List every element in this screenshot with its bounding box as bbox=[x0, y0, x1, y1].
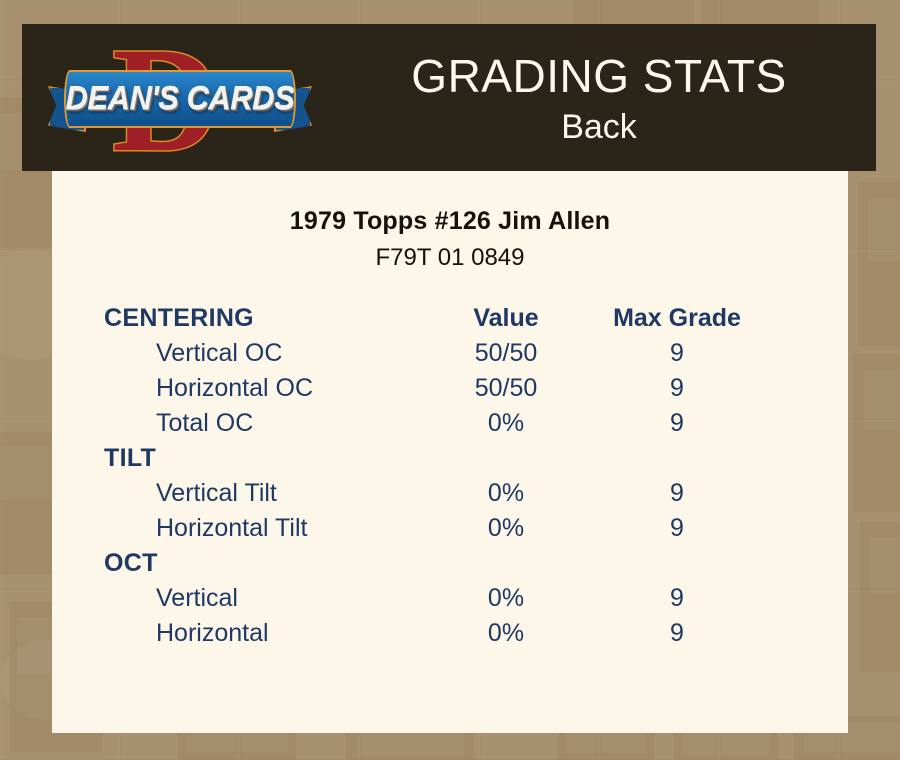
table-section-row-tilt: TILT bbox=[52, 444, 848, 479]
row-label: Vertical Tilt bbox=[52, 479, 420, 508]
section-header-tilt: TILT bbox=[52, 444, 420, 473]
table-row: Vertical OC 50/50 9 bbox=[52, 339, 848, 374]
header-band: D D DEAN'S CARDS GRADING STATS Back bbox=[22, 24, 876, 171]
column-header-max-grade: Max Grade bbox=[592, 304, 762, 333]
row-value: 0% bbox=[420, 479, 592, 508]
section-header-oct: OCT bbox=[52, 549, 420, 578]
column-header-centering: CENTERING bbox=[52, 304, 420, 333]
row-max-grade: 9 bbox=[592, 409, 762, 438]
table-row: Vertical Tilt 0% 9 bbox=[52, 479, 848, 514]
table-row: Horizontal Tilt 0% 9 bbox=[52, 514, 848, 549]
row-value: 50/50 bbox=[420, 339, 592, 368]
background-card bbox=[852, 352, 900, 514]
row-max-grade: 9 bbox=[592, 374, 762, 403]
page-subtitle: Back bbox=[561, 106, 637, 148]
table-row: Total OC 0% 9 bbox=[52, 409, 848, 444]
card-serial: F79T 01 0849 bbox=[52, 244, 848, 272]
row-value: 0% bbox=[420, 514, 592, 543]
background-card bbox=[856, 180, 900, 348]
column-header-value: Value bbox=[420, 304, 592, 333]
page-title: GRADING STATS bbox=[411, 48, 786, 104]
content-panel: 1979 Topps #126 Jim Allen F79T 01 0849 C… bbox=[52, 171, 848, 733]
row-value: 0% bbox=[420, 409, 592, 438]
background-card bbox=[858, 520, 900, 674]
table-row: Horizontal 0% 9 bbox=[52, 619, 848, 654]
grading-stats-table: CENTERING Value Max Grade Vertical OC 50… bbox=[52, 304, 848, 654]
table-section-row-oct: OCT bbox=[52, 549, 848, 584]
table-row: Horizontal OC 50/50 9 bbox=[52, 374, 848, 409]
row-label: Horizontal bbox=[52, 619, 420, 648]
row-max-grade: 9 bbox=[592, 479, 762, 508]
card-title: 1979 Topps #126 Jim Allen bbox=[52, 207, 848, 236]
table-row: Vertical 0% 9 bbox=[52, 584, 848, 619]
header-title-group: GRADING STATS Back bbox=[322, 24, 876, 171]
row-max-grade: 9 bbox=[592, 584, 762, 613]
row-label: Vertical bbox=[52, 584, 420, 613]
row-max-grade: 9 bbox=[592, 339, 762, 368]
page-root: D D DEAN'S CARDS GRADING STATS Back 1979… bbox=[0, 0, 900, 760]
table-header-row: CENTERING Value Max Grade bbox=[52, 304, 848, 339]
row-value: 0% bbox=[420, 584, 592, 613]
row-label: Horizontal OC bbox=[52, 374, 420, 403]
logo-ribbon-body: DEAN'S CARDS bbox=[64, 70, 296, 128]
row-label: Total OC bbox=[52, 409, 420, 438]
logo-ribbon-text: DEAN'S CARDS bbox=[66, 80, 295, 118]
deans-cards-logo: D D DEAN'S CARDS bbox=[50, 30, 310, 166]
row-max-grade: 9 bbox=[592, 619, 762, 648]
row-label: Vertical OC bbox=[52, 339, 420, 368]
row-value: 50/50 bbox=[420, 374, 592, 403]
logo-ribbon: DEAN'S CARDS bbox=[50, 70, 310, 132]
row-value: 0% bbox=[420, 619, 592, 648]
row-label: Horizontal Tilt bbox=[52, 514, 420, 543]
row-max-grade: 9 bbox=[592, 514, 762, 543]
